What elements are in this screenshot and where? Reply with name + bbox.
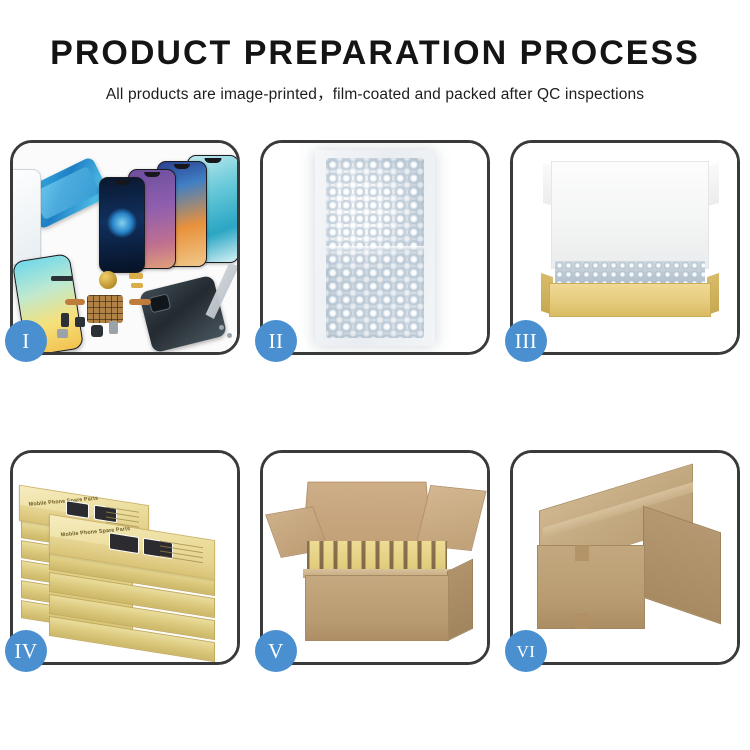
part-small-2 — [75, 317, 85, 327]
step-badge-1: I — [5, 320, 47, 362]
step-badge-4: IV — [5, 630, 47, 672]
phone-screen-fan — [91, 155, 237, 270]
header: PRODUCT PREPARATION PROCESS All products… — [0, 0, 750, 104]
step-panel-3: III — [510, 140, 740, 355]
step-panel-1: I — [10, 140, 240, 355]
step-badge-5: V — [255, 630, 297, 672]
step-panel-6: VI — [510, 450, 740, 665]
kraft-box-body — [549, 283, 711, 317]
page-title: PRODUCT PREPARATION PROCESS — [0, 36, 750, 72]
part-connector — [51, 276, 73, 281]
step-badge-6: VI — [505, 630, 547, 672]
part-small-4 — [109, 321, 118, 334]
part-small-3 — [91, 325, 103, 337]
step-1-image — [13, 143, 237, 352]
tempered-glass-sheet — [13, 169, 41, 265]
carton-side-right — [447, 559, 473, 642]
step-5-image — [263, 453, 487, 662]
sealed-carton-front — [537, 545, 645, 629]
gold-coil-part — [99, 271, 117, 289]
step-3-image — [513, 143, 737, 352]
part-gold-flex-2 — [131, 283, 143, 288]
phone-screen-dark — [99, 177, 145, 273]
step-badge-2: II — [255, 320, 297, 362]
part-flex-cable — [65, 299, 85, 305]
page-subtitle: All products are image-printed，film-coat… — [0, 82, 750, 104]
step-4-image: Mobile Phone Spare Parts Mobile Phone Sp… — [13, 453, 237, 662]
step-panel-4: Mobile Phone Spare Parts Mobile Phone Sp… — [10, 450, 240, 665]
part-small-5 — [57, 329, 68, 338]
packing-tape-front-upper — [575, 545, 589, 561]
step-panel-2: II — [260, 140, 490, 355]
part-gold-flex — [129, 273, 143, 279]
chip-grid-part — [87, 295, 123, 323]
part-small-1 — [61, 313, 69, 327]
part-screw-1 — [219, 325, 224, 330]
step-2-image — [263, 143, 487, 352]
step-badge-3: III — [505, 320, 547, 362]
kraft-box-stack: Mobile Phone Spare Parts Mobile Phone Sp… — [19, 467, 231, 659]
packing-tape-front-lower — [575, 613, 589, 629]
box-lid-open — [551, 161, 709, 269]
product-preparation-infographic: PRODUCT PREPARATION PROCESS All products… — [0, 0, 750, 750]
step-6-image — [513, 453, 737, 662]
bubble-wrap-surface — [326, 158, 424, 338]
step-panel-5: V — [260, 450, 490, 665]
carton-body — [305, 575, 449, 641]
part-screw-2 — [227, 333, 232, 338]
part-flex-cable-2 — [129, 299, 151, 305]
process-steps-grid: I II — [10, 140, 740, 680]
